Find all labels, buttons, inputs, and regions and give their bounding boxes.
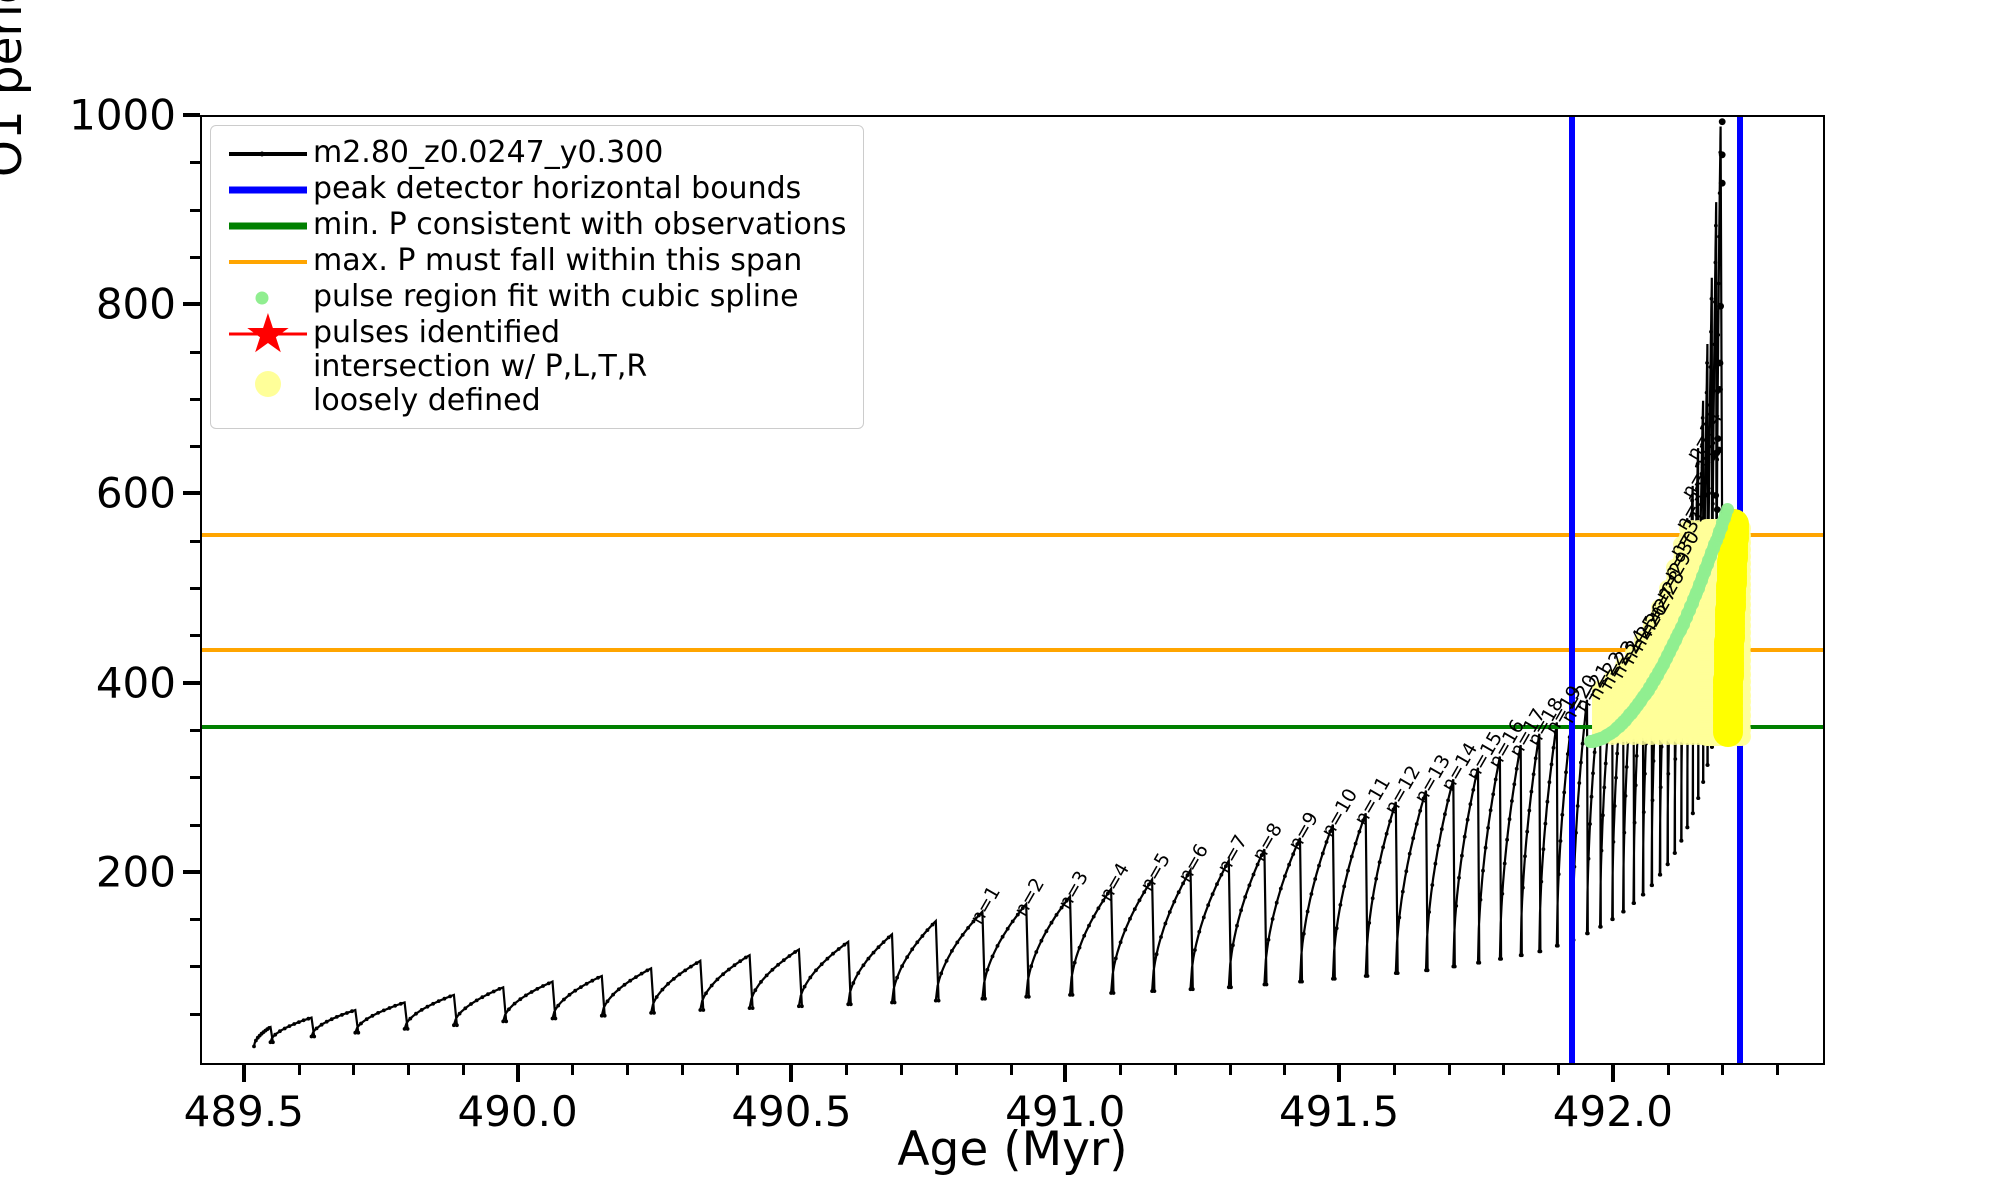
legend-entry[interactable]: m2.80_z0.0247_y0.300 — [225, 136, 847, 172]
x-tick-minor — [1393, 1065, 1396, 1075]
x-tick-minor — [1283, 1065, 1286, 1075]
x-tick-minor — [900, 1065, 903, 1075]
x-tick-minor — [298, 1065, 301, 1075]
x-tick-major — [1337, 1065, 1341, 1082]
x-axis-label: Age (Myr) — [200, 1122, 1825, 1177]
y-tick-label: 200 — [96, 847, 176, 896]
legend-star-line — [229, 333, 307, 336]
x-tick-major — [516, 1065, 520, 1082]
y-tick-minor — [190, 729, 200, 732]
legend-entry[interactable]: max. P must fall within this span — [225, 244, 847, 280]
y-tick-minor — [190, 445, 200, 448]
min-period-consistent — [202, 725, 1823, 729]
y-tick-minor — [190, 776, 200, 779]
legend-entry-label: pulses identified — [311, 316, 560, 350]
y-tick-minor — [190, 209, 200, 212]
legend-entry-label: m2.80_z0.0247_y0.300 — [311, 136, 663, 170]
x-tick-minor — [955, 1065, 958, 1075]
legend-entry-label: intersection w/ P,L,T,R loosely defined — [311, 350, 647, 418]
legend-entry[interactable]: intersection w/ P,L,T,R loosely defined — [225, 352, 847, 416]
y-tick-minor — [190, 256, 200, 259]
x-tick-minor — [845, 1065, 848, 1075]
x-tick-minor — [462, 1065, 465, 1075]
x-tick-minor — [1119, 1065, 1122, 1075]
legend-entry[interactable]: min. P consistent with observations — [225, 208, 847, 244]
max-period-span-lower — [202, 648, 1823, 652]
y-tick-minor — [190, 540, 200, 543]
legend-line-swatch — [229, 152, 307, 156]
x-tick-minor — [626, 1065, 629, 1075]
y-tick-major — [183, 113, 200, 117]
figure-canvas: O1 period (days) 2004006008001000 489.54… — [0, 0, 2000, 1200]
y-tick-minor — [190, 1013, 200, 1016]
legend-entry[interactable]: pulse region fit with cubic spline — [225, 280, 847, 316]
x-tick-major — [242, 1065, 246, 1082]
x-tick-major — [1611, 1065, 1615, 1082]
legend-dot-large-swatch — [255, 371, 281, 397]
legend-box[interactable]: m2.80_z0.0247_y0.300peak detector horizo… — [210, 125, 864, 429]
plot-area: n=1n=2n=3n=4n=5n=6n=7n=8n=9n=10n=11n=12n… — [200, 115, 1825, 1065]
x-tick-minor — [1502, 1065, 1505, 1075]
x-tick-minor — [1174, 1065, 1177, 1075]
x-tick-minor — [352, 1065, 355, 1075]
x-tick-minor — [1667, 1065, 1670, 1075]
peak-detector-left-bound — [1569, 117, 1575, 1063]
x-tick-minor — [1721, 1065, 1724, 1075]
y-axis-ticks: 2004006008001000 — [0, 115, 200, 1065]
spline-point — [1721, 503, 1734, 516]
legend-entry-label: pulse region fit with cubic spline — [311, 280, 799, 314]
x-tick-minor — [1776, 1065, 1779, 1075]
y-tick-major — [183, 681, 200, 685]
y-tick-minor — [190, 398, 200, 401]
x-tick-major — [789, 1065, 793, 1082]
y-tick-major — [183, 302, 200, 306]
y-tick-major — [183, 870, 200, 874]
x-tick-minor — [571, 1065, 574, 1075]
x-tick-minor — [1557, 1065, 1560, 1075]
x-tick-minor — [681, 1065, 684, 1075]
x-tick-major — [1063, 1065, 1067, 1082]
legend-line-swatch — [229, 187, 307, 194]
y-tick-label: 400 — [96, 658, 176, 707]
legend-line-swatch — [229, 260, 307, 264]
x-tick-minor — [1010, 1065, 1013, 1075]
max-period-span-upper — [202, 533, 1823, 537]
y-tick-minor — [190, 351, 200, 354]
y-tick-minor — [190, 918, 200, 921]
legend-point-swatch — [260, 152, 265, 157]
x-tick-minor — [1229, 1065, 1232, 1075]
y-tick-minor — [190, 587, 200, 590]
y-tick-minor — [190, 965, 200, 968]
x-tick-minor — [407, 1065, 410, 1075]
x-tick-minor — [736, 1065, 739, 1075]
y-tick-label: 1000 — [69, 91, 176, 140]
legend-entry-label: peak detector horizontal bounds — [311, 172, 801, 206]
y-tick-minor — [190, 634, 200, 637]
y-tick-minor — [190, 824, 200, 827]
y-tick-major — [183, 491, 200, 495]
y-tick-label: 600 — [96, 469, 176, 518]
y-tick-label: 800 — [96, 280, 176, 329]
legend-entry-label: min. P consistent with observations — [311, 208, 847, 242]
legend-entry[interactable]: ★pulses identified — [225, 316, 847, 352]
legend-entry-label: max. P must fall within this span — [311, 244, 802, 278]
legend-entry[interactable]: peak detector horizontal bounds — [225, 172, 847, 208]
x-tick-minor — [1448, 1065, 1451, 1075]
legend-line-swatch — [229, 223, 307, 230]
y-tick-minor — [190, 161, 200, 164]
